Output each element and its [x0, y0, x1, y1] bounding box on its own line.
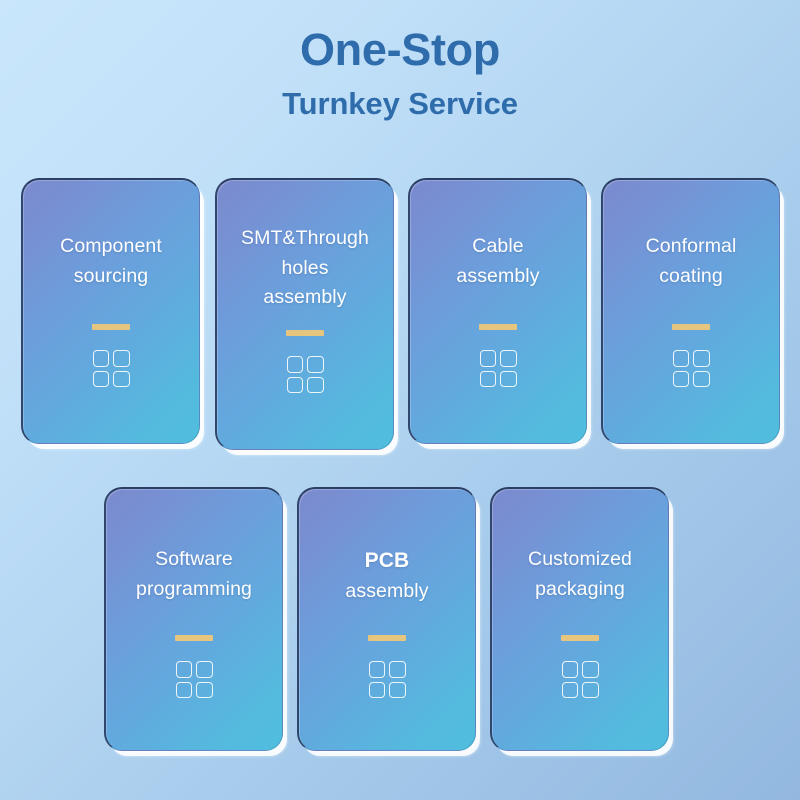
- gold-divider: [286, 330, 324, 336]
- service-card-component-sourcing[interactable]: Componentsourcing: [21, 178, 200, 444]
- service-card-cable-assembly[interactable]: Cableassembly: [408, 178, 587, 444]
- service-card-label: PCBassembly: [335, 545, 438, 607]
- gold-divider: [561, 635, 599, 641]
- gold-divider: [92, 324, 130, 330]
- grid-2x2-icon: [369, 661, 406, 698]
- grid-2x2-icon: [287, 356, 324, 393]
- service-card-software-programming[interactable]: Softwareprogramming: [104, 487, 283, 751]
- service-card-pcb-assembly[interactable]: PCBassembly: [297, 487, 476, 751]
- grid-2x2-icon: [480, 350, 517, 387]
- grid-2x2-icon: [673, 350, 710, 387]
- grid-2x2-icon: [176, 661, 213, 698]
- service-card-smt-through-holes-assembly[interactable]: SMT&Throughholesassembly: [215, 178, 394, 450]
- gold-divider: [479, 324, 517, 330]
- page-subtitle: Turnkey Service: [0, 87, 800, 121]
- service-card-label: Conformalcoating: [636, 232, 747, 291]
- service-card-label: Softwareprogramming: [126, 545, 262, 604]
- gold-divider: [368, 635, 406, 641]
- service-card-customized-packaging[interactable]: Customizedpackaging: [490, 487, 669, 751]
- service-card-label: Cableassembly: [446, 232, 549, 291]
- service-card-label: SMT&Throughholesassembly: [231, 224, 379, 313]
- service-card-label: Componentsourcing: [50, 232, 172, 291]
- gold-divider: [672, 324, 710, 330]
- page-title: One-Stop: [0, 26, 800, 73]
- grid-2x2-icon: [93, 350, 130, 387]
- gold-divider: [175, 635, 213, 641]
- page-header: One-Stop Turnkey Service: [0, 0, 800, 121]
- service-card-label: Customizedpackaging: [518, 545, 642, 604]
- service-card-conformal-coating[interactable]: Conformalcoating: [601, 178, 780, 444]
- grid-2x2-icon: [562, 661, 599, 698]
